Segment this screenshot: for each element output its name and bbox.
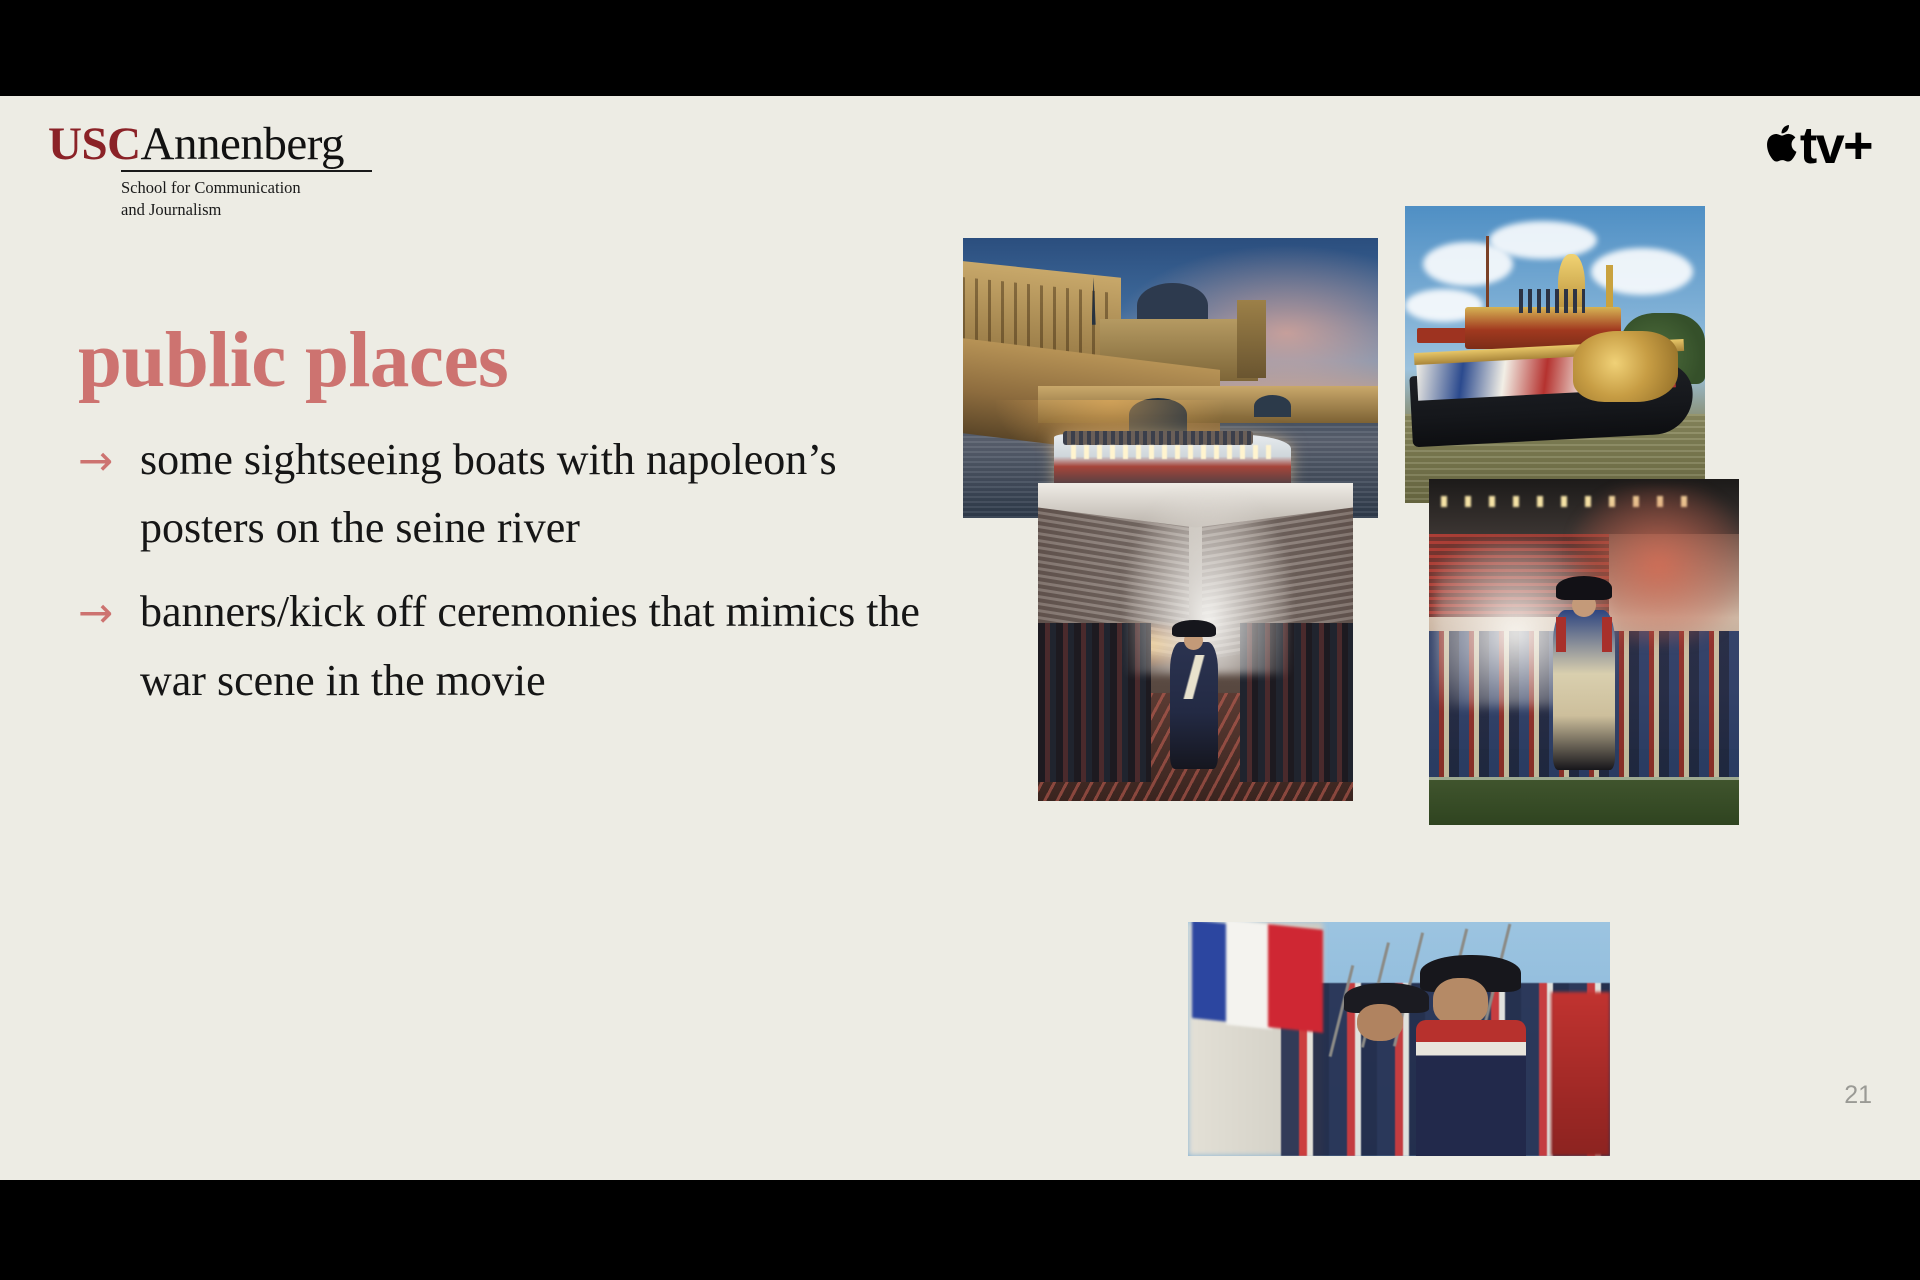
letterbox-bottom	[0, 1180, 1920, 1280]
logo-usc-text: USC	[48, 118, 141, 170]
page-title: public places	[78, 321, 508, 400]
list-item: → banners/kick off ceremonies that mimic…	[78, 578, 958, 714]
usc-annenberg-logo: USCAnnenberg School for Communication an…	[48, 121, 378, 221]
arrow-right-icon: →	[78, 578, 140, 645]
logo-school-line-2: and Journalism	[121, 199, 378, 221]
slide-frame: USCAnnenberg School for Communication an…	[0, 0, 1920, 1280]
page-number: 21	[1844, 1081, 1872, 1110]
letterbox-top	[0, 0, 1920, 96]
slide-canvas: USCAnnenberg School for Communication an…	[0, 96, 1920, 1180]
image-french-reenactors-flag	[1188, 922, 1610, 1156]
logo-school-line-1: School for Communication	[121, 177, 378, 199]
apple-icon	[1764, 124, 1798, 166]
image-ornate-gilded-barge	[1405, 206, 1705, 503]
apple-tv-plus-text: tv+	[1800, 120, 1872, 172]
image-stadium-kickoff-ceremony	[1038, 483, 1353, 801]
apple-tv-plus-logo: tv+	[1764, 118, 1872, 172]
arrow-right-icon: →	[78, 426, 140, 493]
logo-annenberg-text: Annenberg	[141, 118, 344, 170]
bullet-text: banners/kick off ceremonies that mimics …	[140, 578, 958, 714]
image-seine-river-cruise-boat	[963, 238, 1378, 518]
list-item: → some sightseeing boats with napoleon’s…	[78, 426, 958, 562]
bullet-list: → some sightseeing boats with napoleon’s…	[78, 426, 958, 731]
logo-divider	[121, 170, 372, 172]
logo-wordmark: USCAnnenberg	[48, 121, 378, 168]
bullet-text: some sightseeing boats with napoleon’s p…	[140, 426, 958, 562]
image-stadium-soldier-charge	[1429, 479, 1739, 825]
